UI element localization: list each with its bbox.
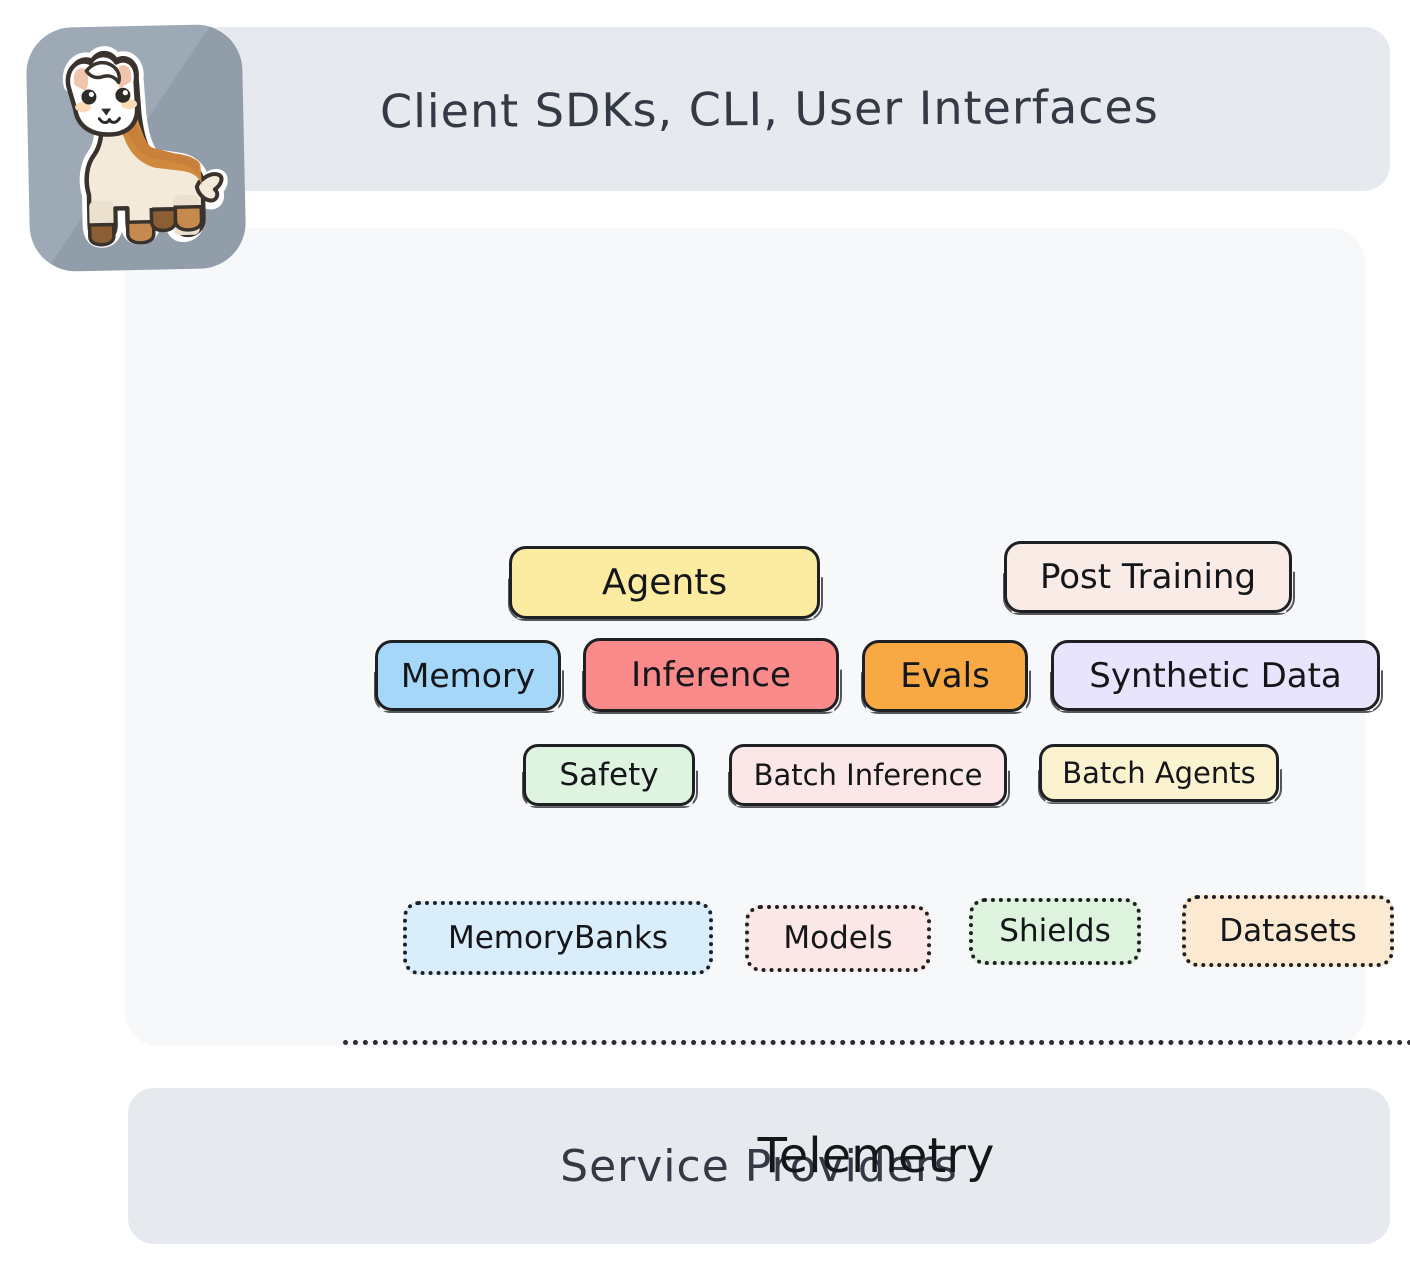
resource-box-memorybanks-label: MemoryBanks	[448, 923, 668, 954]
api-box-batch-agents[interactable]: Batch Agents	[1039, 744, 1279, 802]
api-box-memory[interactable]: Memory	[375, 640, 561, 711]
api-layer-panel: Agents Post Training Memory Inference Ev…	[125, 228, 1365, 1046]
client-layer-label: Client SDKs, CLI, User Interfaces	[379, 80, 1158, 139]
resource-box-datasets[interactable]: Datasets	[1182, 895, 1394, 967]
resource-box-memorybanks[interactable]: MemoryBanks	[403, 901, 713, 975]
api-box-batch-inference-label: Batch Inference	[754, 761, 983, 790]
api-box-post-training-label: Post Training	[1040, 560, 1256, 594]
api-box-evals-label: Evals	[900, 659, 990, 693]
api-box-synthetic-data[interactable]: Synthetic Data	[1051, 640, 1380, 711]
api-box-inference[interactable]: Inference	[583, 638, 839, 712]
client-layer-banner: Client SDKs, CLI, User Interfaces	[128, 27, 1390, 191]
api-box-safety[interactable]: Safety	[523, 744, 695, 806]
api-box-batch-inference[interactable]: Batch Inference	[729, 744, 1007, 806]
section-divider	[343, 1040, 1410, 1045]
api-box-safety-label: Safety	[559, 760, 658, 791]
resource-box-shields-label: Shields	[999, 916, 1110, 947]
api-box-agents[interactable]: Agents	[509, 546, 820, 619]
api-box-synthetic-data-label: Synthetic Data	[1089, 659, 1342, 693]
resource-box-models[interactable]: Models	[745, 905, 931, 972]
llama-logo-tile	[25, 24, 246, 272]
resource-box-shields[interactable]: Shields	[969, 898, 1141, 965]
api-box-evals[interactable]: Evals	[862, 640, 1028, 712]
resource-box-models-label: Models	[783, 923, 892, 954]
api-box-inference-label: Inference	[631, 658, 791, 692]
llama-icon	[40, 42, 229, 258]
api-box-post-training[interactable]: Post Training	[1004, 541, 1292, 613]
telemetry-box-label: Telemetry	[758, 1132, 995, 1180]
resource-box-datasets-label: Datasets	[1219, 916, 1357, 947]
api-box-memory-label: Memory	[401, 659, 535, 692]
api-box-agents-label: Agents	[602, 565, 727, 601]
api-box-batch-agents-label: Batch Agents	[1062, 759, 1256, 788]
